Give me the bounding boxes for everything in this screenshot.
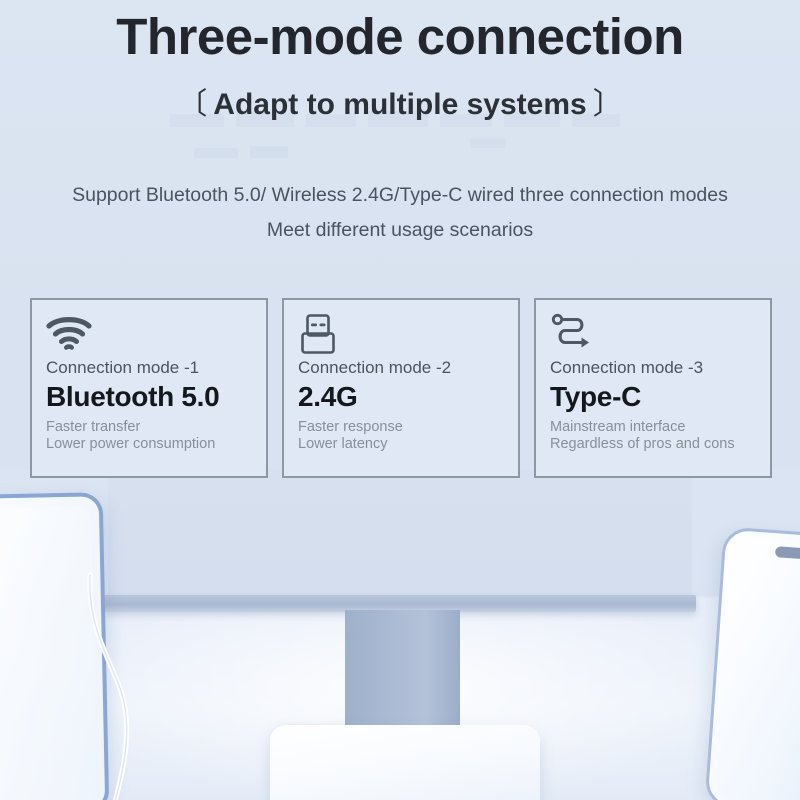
monitor-stand-base [270, 725, 540, 800]
cable-route-arrow-icon [550, 313, 756, 355]
usb-c-cable-icon [84, 575, 204, 800]
subtitle-text: Adapt to multiple systems [213, 88, 586, 121]
page-subtitle: 〔Adapt to multiple systems〕 [0, 83, 800, 127]
promo-poster: Three-mode connection 〔Adapt to multiple… [0, 0, 800, 800]
description-block: Support Bluetooth 5.0/ Wireless 2.4G/Typ… [0, 178, 800, 248]
product-photo-scene [0, 470, 800, 800]
card-note-line-1: Mainstream interface [550, 419, 756, 436]
card-note-line-2: Lower power consumption [46, 436, 252, 453]
description-line-1: Support Bluetooth 5.0/ Wireless 2.4G/Typ… [72, 184, 728, 206]
phone-screen [714, 536, 800, 800]
usb-dongle-icon [298, 313, 504, 355]
card-mode-label: Connection mode -1 [46, 357, 252, 379]
card-note-line-2: Regardless of pros and cons [550, 436, 756, 453]
wifi-signal-icon [46, 313, 252, 355]
subtitle-open-bracket: 〔 [171, 88, 213, 121]
card-bluetooth[interactable]: Connection mode -1 Bluetooth 5.0 Faster … [30, 298, 268, 478]
card-title: Bluetooth 5.0 [46, 380, 252, 414]
card-title: Type-C [550, 380, 756, 414]
top-content: Three-mode connection 〔Adapt to multiple… [0, 0, 800, 500]
card-note-line-1: Faster response [298, 419, 504, 436]
description-line-2: Meet different usage scenarios [0, 213, 800, 248]
card-note-line-1: Faster transfer [46, 419, 252, 436]
card-title: 2.4G [298, 380, 504, 414]
connection-mode-cards: Connection mode -1 Bluetooth 5.0 Faster … [30, 298, 772, 478]
subtitle-close-bracket: 〕 [587, 88, 629, 121]
card-mode-label: Connection mode -3 [550, 357, 756, 379]
card-type-c[interactable]: Connection mode -3 Type-C Mainstream int… [534, 298, 772, 478]
page-title: Three-mode connection [0, 6, 800, 68]
card-note-line-2: Lower latency [298, 436, 504, 453]
card-mode-label: Connection mode -2 [298, 357, 504, 379]
card-wireless-24g[interactable]: Connection mode -2 2.4G Faster response … [282, 298, 520, 478]
